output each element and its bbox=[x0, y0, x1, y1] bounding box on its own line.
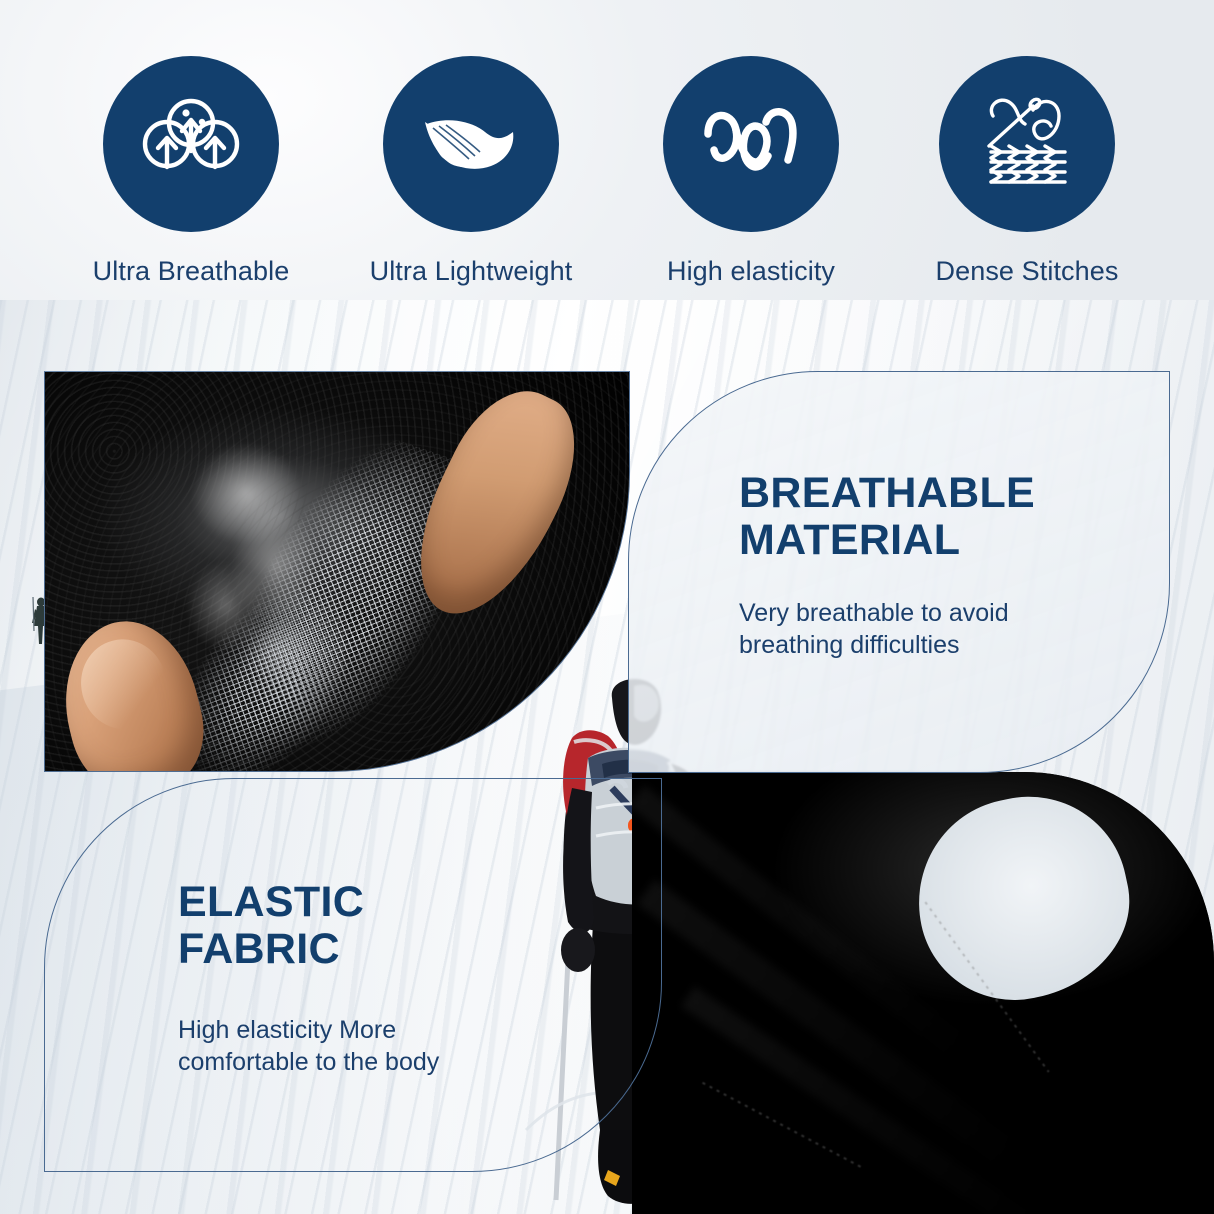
breathable-sub-line-2: breathing difficulties bbox=[739, 629, 1139, 662]
breathable-title-line-2: MATERIAL bbox=[739, 517, 1139, 564]
elastic-panel-subtitle: High elasticity More comfortable to the … bbox=[178, 1014, 578, 1079]
black-fabric-product-photo bbox=[632, 772, 1214, 1214]
feature-label: High elasticity bbox=[667, 256, 835, 287]
elastic-title-line-2: FABRIC bbox=[178, 926, 578, 973]
elastic-title-line-1: ELASTIC bbox=[178, 879, 578, 926]
elastic-sub-line-1: High elasticity More bbox=[178, 1014, 578, 1047]
fabric-opening bbox=[900, 778, 1147, 1017]
breathable-cloud-arrows-icon bbox=[136, 89, 246, 199]
needle-thread-stitches-icon bbox=[971, 88, 1083, 200]
breathable-panel-title: BREATHABLE MATERIAL bbox=[739, 470, 1139, 565]
feature-icon-badge bbox=[939, 56, 1115, 232]
feature-icon-badge bbox=[383, 56, 559, 232]
infographic-canvas: Ultra Breathable Ultra Lightweight bbox=[0, 0, 1214, 1214]
breathable-title-line-1: BREATHABLE bbox=[739, 470, 1139, 517]
black-fabric-photo-panel bbox=[632, 772, 1214, 1214]
feature-label: Ultra Breathable bbox=[93, 256, 290, 287]
elastic-fabric-panel: ELASTIC FABRIC High elasticity More comf… bbox=[44, 778, 662, 1172]
elastic-sub-line-2: comfortable to the body bbox=[178, 1046, 578, 1079]
elastic-coil-icon bbox=[696, 94, 806, 194]
feature-item-high-elasticity[interactable]: High elasticity bbox=[636, 56, 866, 287]
elastic-panel-title: ELASTIC FABRIC bbox=[178, 879, 578, 974]
breathable-fabric-photo-panel bbox=[44, 371, 630, 772]
feature-item-ultra-breathable[interactable]: Ultra Breathable bbox=[76, 56, 306, 287]
product-scene: BREATHABLE MATERIAL Very breathable to a… bbox=[0, 300, 1214, 1214]
feather-icon bbox=[415, 88, 527, 200]
breathable-panel-subtitle: Very breathable to avoid breathing diffi… bbox=[739, 597, 1139, 662]
breathable-mesh-fabric-closeup-photo bbox=[44, 371, 630, 772]
feature-item-ultra-lightweight[interactable]: Ultra Lightweight bbox=[356, 56, 586, 287]
feature-label: Dense Stitches bbox=[936, 256, 1119, 287]
feature-icon-badge bbox=[103, 56, 279, 232]
feature-label: Ultra Lightweight bbox=[370, 256, 573, 287]
feature-icon-badge bbox=[663, 56, 839, 232]
feature-item-dense-stitches[interactable]: Dense Stitches bbox=[912, 56, 1142, 287]
breathable-sub-line-1: Very breathable to avoid bbox=[739, 597, 1139, 630]
breathable-material-panel: BREATHABLE MATERIAL Very breathable to a… bbox=[628, 371, 1170, 773]
